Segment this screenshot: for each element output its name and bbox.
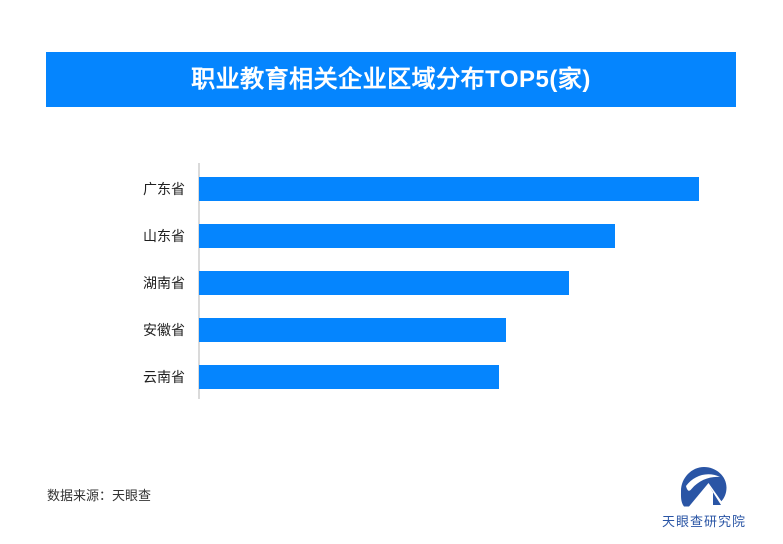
bar-category-label: 安徽省 bbox=[90, 320, 185, 340]
data-source-note: 数据来源：天眼查 bbox=[47, 487, 151, 505]
brand-logo-block: 天眼查研究院 bbox=[648, 466, 760, 534]
bar-track bbox=[199, 318, 699, 342]
bar-category-label: 湖南省 bbox=[90, 273, 185, 293]
bar-category-label: 广东省 bbox=[90, 179, 185, 199]
chart-canvas: 职业教育相关企业区域分布TOP5(家) 广东省 山东省 湖南省 安徽省 bbox=[0, 0, 783, 544]
bar-fill bbox=[199, 224, 615, 248]
bar-fill bbox=[199, 177, 699, 201]
bar-row: 云南省 bbox=[0, 365, 783, 389]
bar-category-label: 山东省 bbox=[90, 226, 185, 246]
bar-track bbox=[199, 271, 699, 295]
bar-chart-plot-area: 广东省 山东省 湖南省 安徽省 云南省 bbox=[0, 150, 783, 410]
bar-row: 广东省 bbox=[0, 177, 783, 201]
bar-fill bbox=[199, 271, 569, 295]
bar-track bbox=[199, 224, 699, 248]
bar-row: 山东省 bbox=[0, 224, 783, 248]
bar-fill bbox=[199, 365, 499, 389]
bar-category-label: 云南省 bbox=[90, 367, 185, 387]
bar-row: 安徽省 bbox=[0, 318, 783, 342]
chart-title-banner: 职业教育相关企业区域分布TOP5(家) bbox=[46, 52, 736, 107]
bar-track bbox=[199, 365, 699, 389]
bar-row: 湖南省 bbox=[0, 271, 783, 295]
brand-logo-text: 天眼查研究院 bbox=[662, 511, 746, 530]
tianyancha-eye-arch-logo-icon bbox=[679, 466, 729, 508]
bar-track bbox=[199, 177, 699, 201]
bar-fill bbox=[199, 318, 506, 342]
page-title: 职业教育相关企业区域分布TOP5(家) bbox=[191, 68, 591, 92]
